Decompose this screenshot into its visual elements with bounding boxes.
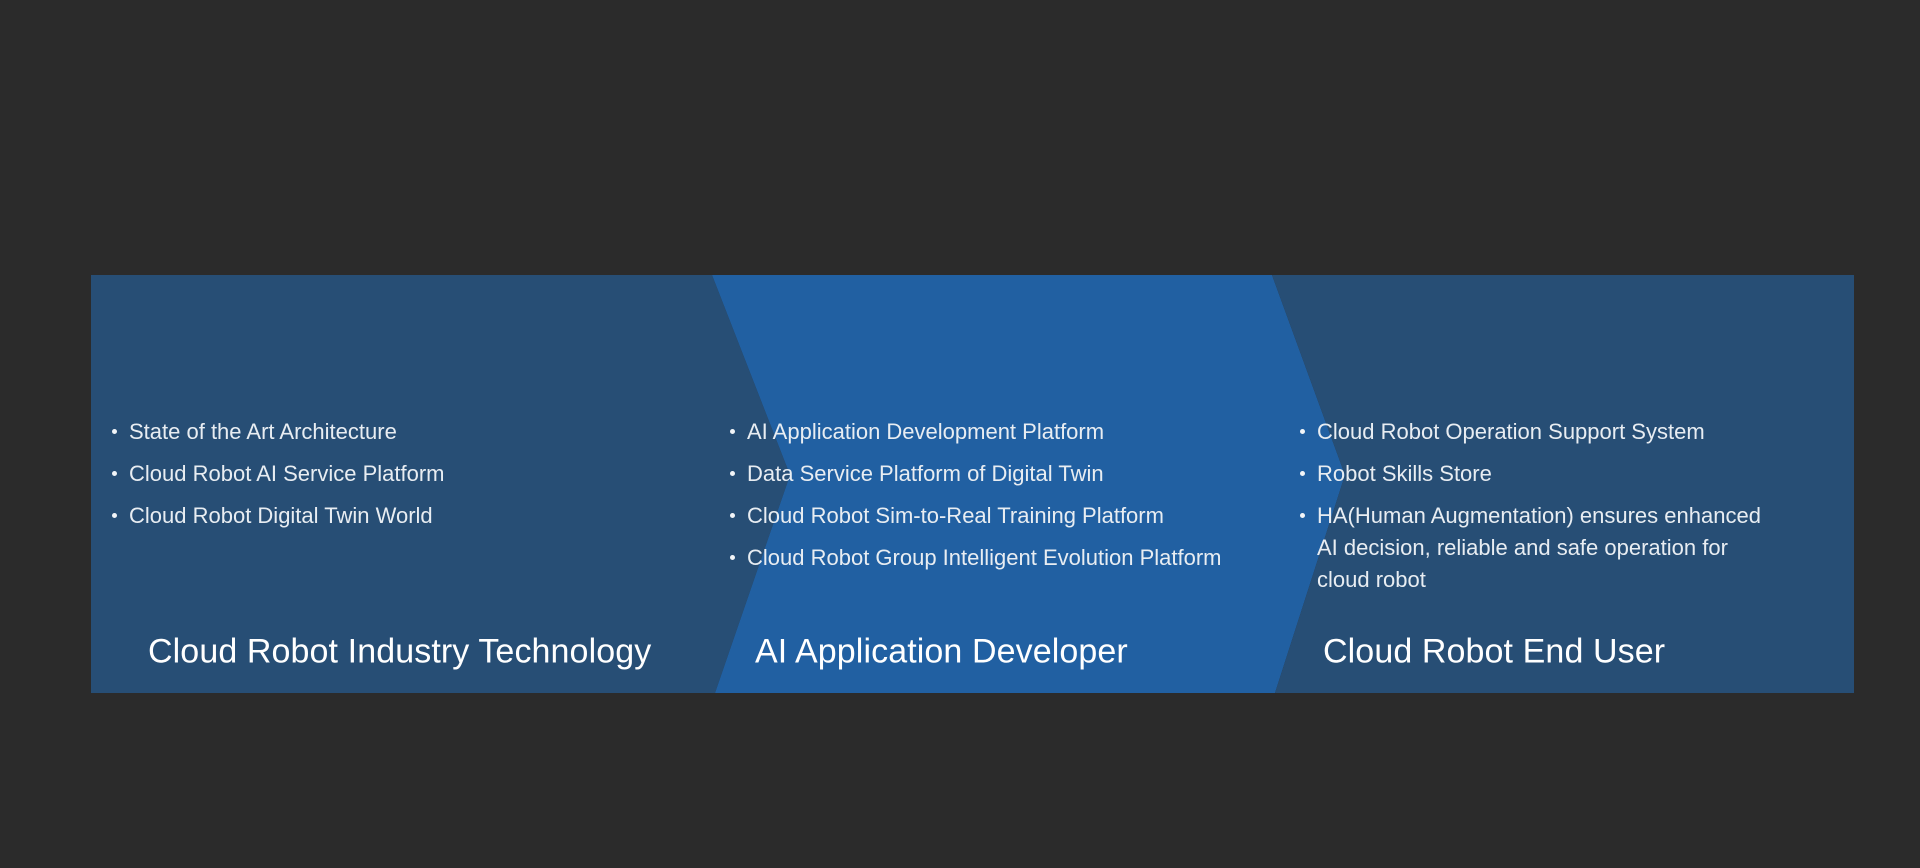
bullet-dot-icon (112, 471, 117, 476)
list-item: HA(Human Augmentation) ensures enhanced … (1299, 500, 1779, 596)
chevron-stage-3: Cloud Robot End User Cloud Robot Operati… (1351, 275, 1854, 693)
list-item: Cloud Robot Sim-to-Real Training Platfor… (729, 500, 1289, 532)
stage-2-bullet-2: Data Service Platform of Digital Twin (747, 461, 1104, 486)
bullet-dot-icon (1300, 513, 1305, 518)
bullet-dot-icon (730, 429, 735, 434)
list-item: Data Service Platform of Digital Twin (729, 458, 1289, 490)
slide-canvas: Cloud Robot Industry Technology State of… (0, 0, 1920, 868)
stage-3-bullet-2: Robot Skills Store (1317, 461, 1492, 486)
stage-2-title: AI Application Developer (755, 633, 1128, 670)
chevron-stage-2: AI Application Developer AI Application … (791, 275, 1351, 693)
bullet-dot-icon (730, 513, 735, 518)
list-item: Cloud Robot Digital Twin World (111, 500, 711, 532)
stage-3-bullet-list: Cloud Robot Operation Support System Rob… (1299, 416, 1779, 606)
list-item: Cloud Robot AI Service Platform (111, 458, 711, 490)
stage-1-bullet-1: State of the Art Architecture (129, 419, 397, 444)
bullet-dot-icon (730, 555, 735, 560)
list-item: Robot Skills Store (1299, 458, 1779, 490)
chevron-text-layer: Cloud Robot Industry Technology State of… (91, 275, 1854, 693)
bullet-dot-icon (1300, 429, 1305, 434)
bullet-dot-icon (112, 429, 117, 434)
list-item: AI Application Development Platform (729, 416, 1289, 448)
stage-1-bullet-3: Cloud Robot Digital Twin World (129, 503, 433, 528)
stage-1-bullet-list: State of the Art Architecture Cloud Robo… (111, 416, 711, 542)
stage-2-bullet-3: Cloud Robot Sim-to-Real Training Platfor… (747, 503, 1164, 528)
stage-3-bullet-1: Cloud Robot Operation Support System (1317, 419, 1705, 444)
stage-1-title: Cloud Robot Industry Technology (148, 633, 651, 670)
stage-2-bullet-1: AI Application Development Platform (747, 419, 1104, 444)
stage-3-bullet-3: HA(Human Augmentation) ensures enhanced … (1317, 503, 1761, 592)
chevron-band: Cloud Robot Industry Technology State of… (91, 275, 1854, 693)
stage-2-bullet-list: AI Application Development Platform Data… (729, 416, 1289, 584)
stage-3-title: Cloud Robot End User (1323, 633, 1665, 670)
bullet-dot-icon (1300, 471, 1305, 476)
list-item: Cloud Robot Group Intelligent Evolution … (729, 542, 1289, 574)
list-item: Cloud Robot Operation Support System (1299, 416, 1779, 448)
list-item: State of the Art Architecture (111, 416, 711, 448)
chevron-stage-1: Cloud Robot Industry Technology State of… (91, 275, 791, 693)
bullet-dot-icon (112, 513, 117, 518)
stage-1-bullet-2: Cloud Robot AI Service Platform (129, 461, 444, 486)
stage-2-bullet-4: Cloud Robot Group Intelligent Evolution … (747, 545, 1221, 570)
bullet-dot-icon (730, 471, 735, 476)
